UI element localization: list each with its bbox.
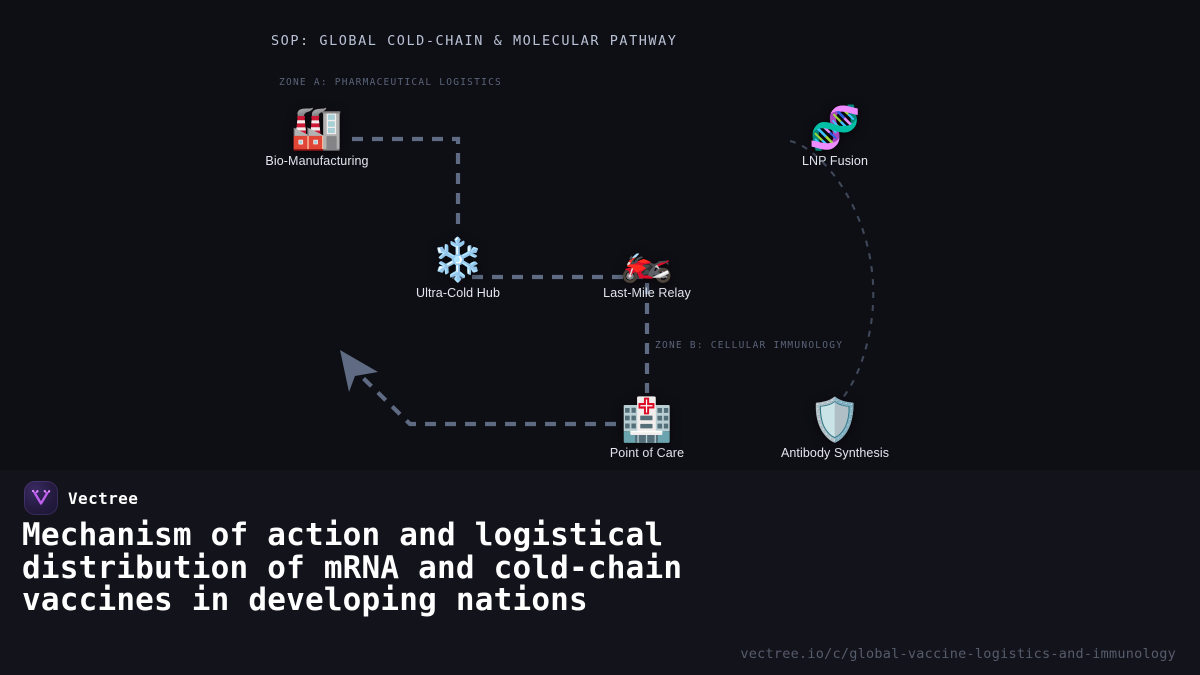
node-bio-manufacturing[interactable]: 🏭 Bio-Manufacturing: [242, 105, 392, 168]
shield-icon: 🛡️: [760, 397, 910, 443]
node-point-of-care[interactable]: 🏥 Point of Care: [572, 397, 722, 460]
sop-title: SOP: GLOBAL COLD-CHAIN & MOLECULAR PATHW…: [271, 33, 677, 49]
vectree-logo-icon: [24, 481, 58, 515]
node-label-point-of-care: Point of Care: [572, 446, 722, 460]
node-label-ultra-cold-hub: Ultra-Cold Hub: [383, 286, 533, 300]
node-label-lnp-fusion: LNP Fusion: [760, 154, 910, 168]
node-ultra-cold-hub[interactable]: ❄️ Ultra-Cold Hub: [383, 237, 533, 300]
edge-lnp-to-antibody: [790, 141, 873, 404]
node-antibody-synthesis[interactable]: 🛡️ Antibody Synthesis: [760, 397, 910, 460]
node-label-last-mile-relay: Last-Mile Relay: [572, 286, 722, 300]
dna-icon: 🧬: [760, 105, 910, 151]
brand-name: Vectree: [68, 489, 138, 508]
motorcycle-icon: 🏍️: [572, 237, 722, 283]
brand-lockup: Vectree: [24, 481, 138, 515]
node-label-bio-manufacturing: Bio-Manufacturing: [242, 154, 392, 168]
zone-label-b: ZONE B: CELLULAR IMMUNOLOGY: [655, 340, 843, 351]
hospital-icon: 🏥: [572, 397, 722, 443]
diagram-canvas[interactable]: SOP: GLOBAL COLD-CHAIN & MOLECULAR PATHW…: [0, 0, 1200, 470]
node-last-mile-relay[interactable]: 🏍️ Last-Mile Relay: [572, 237, 722, 300]
factory-icon: 🏭: [242, 105, 392, 151]
bottom-banner: Vectree Mechanism of action and logistic…: [0, 470, 1200, 675]
screenshot-root: SOP: GLOBAL COLD-CHAIN & MOLECULAR PATHW…: [0, 0, 1200, 675]
headline: Mechanism of action and logistical distr…: [22, 519, 782, 617]
zone-label-a: ZONE A: PHARMACEUTICAL LOGISTICS: [279, 77, 502, 88]
snowflake-icon: ❄️: [383, 237, 533, 283]
node-label-antibody-synthesis: Antibody Synthesis: [760, 446, 910, 460]
cursor-arrowhead: [340, 350, 378, 392]
node-lnp-fusion[interactable]: 🧬 LNP Fusion: [760, 105, 910, 168]
site-url: vectree.io/c/global-vaccine-logistics-an…: [740, 646, 1176, 662]
